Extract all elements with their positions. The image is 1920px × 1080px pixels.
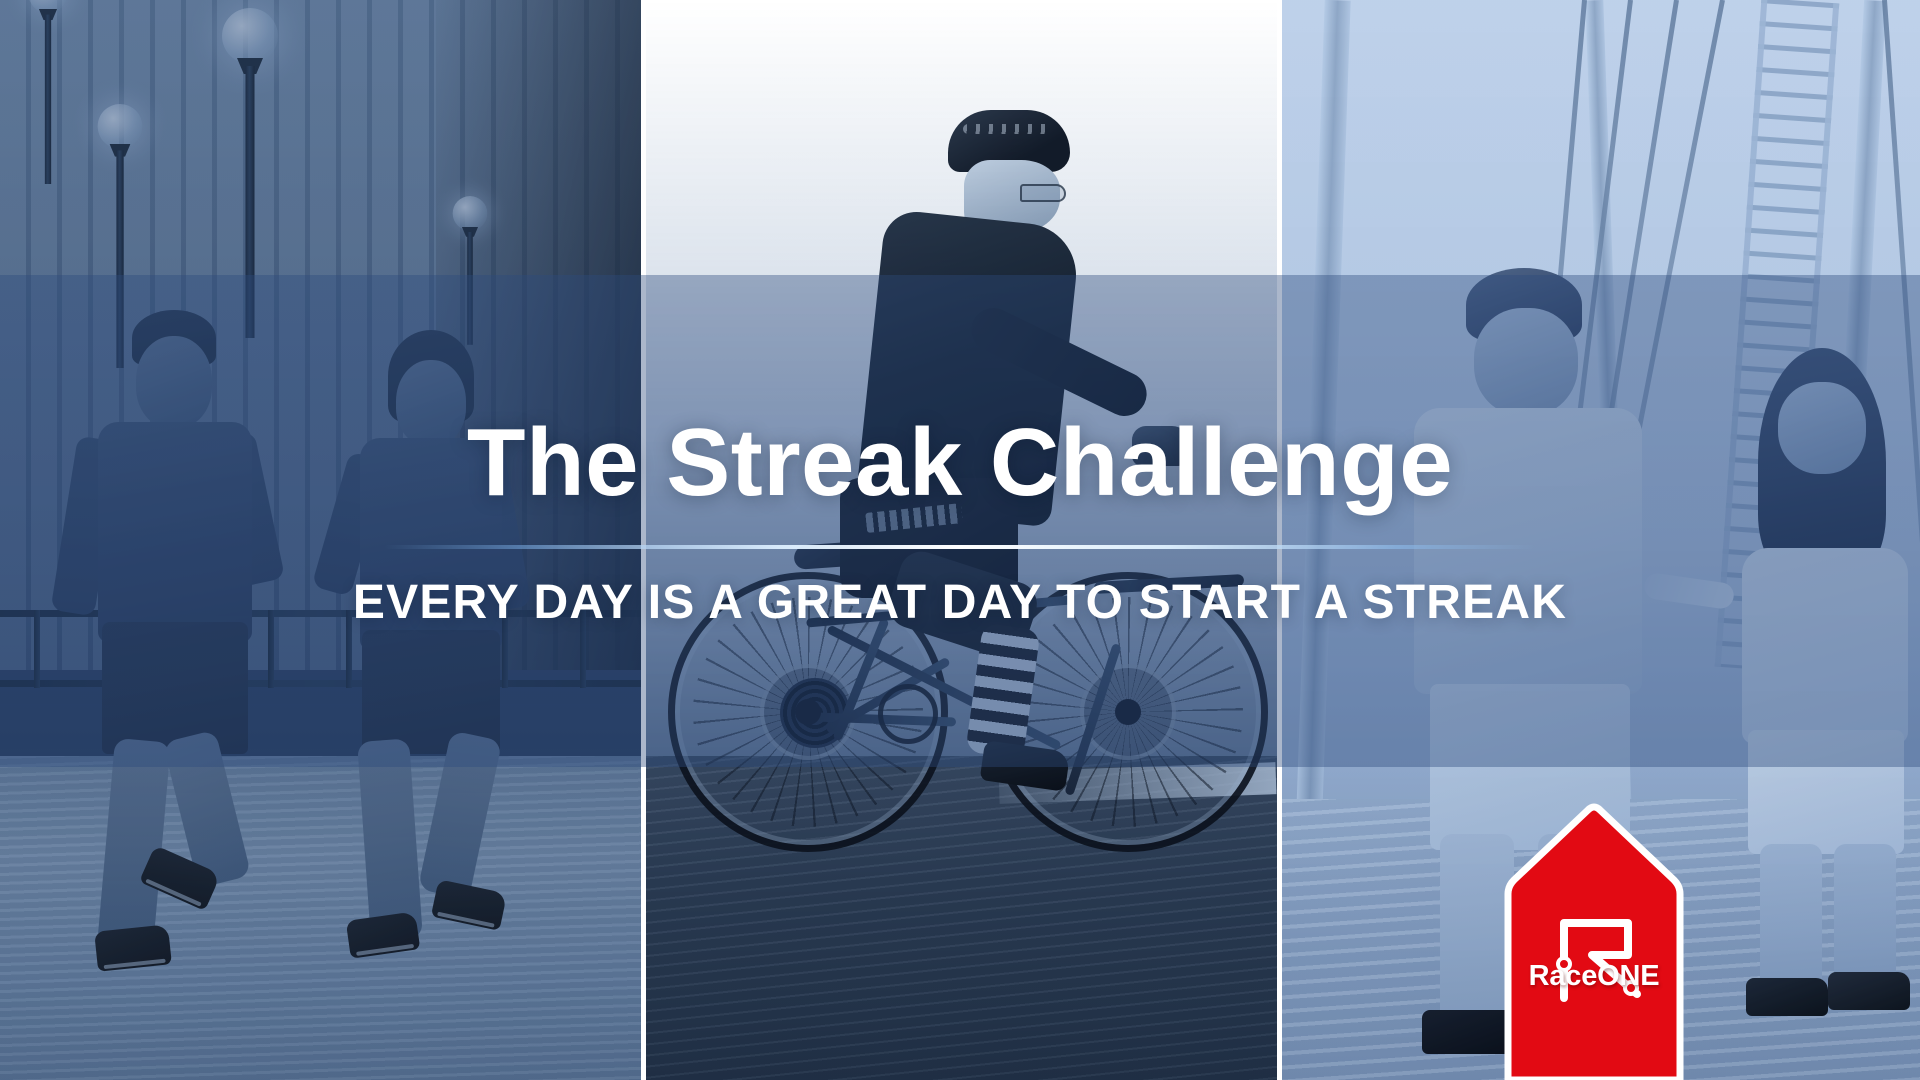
page-title: The Streak Challenge	[467, 415, 1453, 511]
hero-banner: The Streak Challenge EVERY DAY IS A GREA…	[0, 0, 1920, 1080]
raceone-badge-shape	[1500, 798, 1688, 1080]
raceone-wordmark: RaceONE	[1500, 960, 1688, 993]
headline-block: The Streak Challenge EVERY DAY IS A GREA…	[0, 275, 1920, 767]
page-subtitle: EVERY DAY IS A GREAT DAY TO START A STRE…	[353, 579, 1567, 627]
glasses-icon	[1020, 184, 1066, 202]
title-divider	[385, 545, 1535, 549]
raceone-logo[interactable]: RaceONE	[1500, 798, 1688, 1080]
